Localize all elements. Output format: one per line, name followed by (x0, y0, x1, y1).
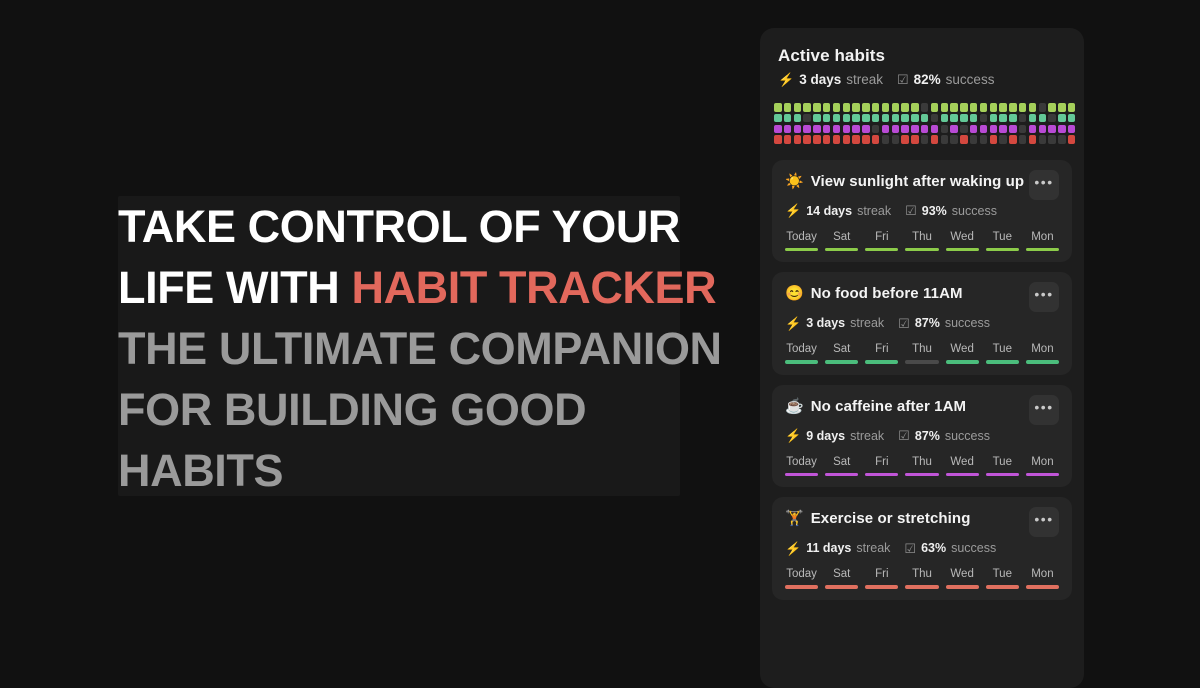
habit-day[interactable]: Sat (825, 456, 858, 477)
habit-streak-value: 11 days (806, 541, 851, 555)
heatmap-cell[interactable] (990, 114, 998, 123)
heatmap-cell[interactable] (960, 135, 968, 144)
coffee-cup-icon: ☕ (785, 397, 804, 416)
habit-card[interactable]: 😊No food before 11AM•••⚡3 daysstreak☑87%… (772, 272, 1072, 375)
habit-options-button[interactable]: ••• (1029, 282, 1059, 312)
habit-card[interactable]: ☕No caffeine after 1AM•••⚡9 daysstreak☑8… (772, 385, 1072, 488)
habit-day-label: Fri (865, 343, 898, 355)
habit-day-label: Mon (1026, 568, 1059, 580)
headline-segment-grey: HABITS (118, 445, 283, 496)
heatmap-cell[interactable] (901, 103, 909, 112)
lightning-bolt-icon: ⚡ (785, 542, 801, 555)
heatmap-cell[interactable] (911, 135, 919, 144)
heatmap-cell[interactable] (872, 103, 880, 112)
heatmap-cell[interactable] (921, 103, 929, 112)
heatmap-cell[interactable] (803, 114, 811, 123)
heatmap-cell[interactable] (970, 135, 978, 144)
heatmap-row (774, 135, 1070, 144)
lightning-bolt-icon: ⚡ (785, 204, 801, 217)
heatmap-cell[interactable] (872, 135, 880, 144)
heatmap-cell[interactable] (813, 103, 821, 112)
habit-day-bar (986, 248, 1019, 252)
heatmap-cell[interactable] (911, 103, 919, 112)
heatmap-cell[interactable] (990, 125, 998, 134)
panel-success-label: success (946, 72, 995, 87)
heatmap-cell[interactable] (1068, 103, 1076, 112)
habit-day-label: Mon (1026, 343, 1059, 355)
heatmap-cell[interactable] (1068, 135, 1076, 144)
habit-day[interactable]: Sat (825, 568, 858, 589)
heatmap-cell[interactable] (941, 135, 949, 144)
habit-title: No caffeine after 1AM (811, 397, 1025, 416)
habit-day[interactable]: Thu (905, 231, 938, 252)
habit-day[interactable]: Mon (1026, 568, 1059, 589)
habit-day-label: Wed (946, 568, 979, 580)
habit-stats: ⚡9 daysstreak☑87%success (785, 429, 1059, 443)
habit-day[interactable]: Mon (1026, 231, 1059, 252)
heatmap-cell[interactable] (882, 114, 890, 123)
habit-day[interactable]: Tue (986, 568, 1019, 589)
heatmap-cell[interactable] (901, 135, 909, 144)
habit-title: View sunlight after waking up (811, 172, 1025, 191)
habit-options-button[interactable]: ••• (1029, 170, 1059, 200)
heatmap-cell[interactable] (1009, 114, 1017, 123)
habit-day-bar (865, 360, 898, 364)
heatmap-cell[interactable] (852, 135, 860, 144)
habit-streak-label: streak (850, 429, 884, 443)
heatmap-cell[interactable] (882, 135, 890, 144)
habit-day-label: Sat (825, 456, 858, 468)
habit-success-value: 63% (921, 541, 946, 555)
heatmap-cell[interactable] (960, 114, 968, 123)
habit-title: No food before 11AM (811, 284, 1025, 303)
habit-day-bar (1026, 360, 1059, 364)
habit-day-bar (946, 473, 979, 477)
habit-day[interactable]: Mon (1026, 343, 1059, 364)
heatmap-cell[interactable] (921, 125, 929, 134)
heatmap-cell[interactable] (892, 135, 900, 144)
heatmap-cell[interactable] (1048, 125, 1056, 134)
heatmap-cell[interactable] (999, 125, 1007, 134)
habit-day-label: Sat (825, 568, 858, 580)
heatmap-cell[interactable] (882, 125, 890, 134)
heatmap-row (774, 114, 1070, 123)
heatmap-cell[interactable] (774, 135, 782, 144)
habit-day[interactable]: Tue (986, 231, 1019, 252)
habit-day-bar (905, 473, 938, 477)
heatmap-cell[interactable] (931, 114, 939, 123)
habit-card-header: 😊No food before 11AM••• (785, 284, 1059, 312)
habit-day-label: Fri (865, 568, 898, 580)
habit-success-label: success (945, 316, 990, 330)
heatmap-cell[interactable] (931, 135, 939, 144)
habit-stats: ⚡3 daysstreak☑87%success (785, 316, 1059, 330)
heatmap-cell[interactable] (1009, 103, 1017, 112)
heatmap-cell[interactable] (794, 125, 802, 134)
habit-day[interactable]: Fri (865, 343, 898, 364)
habit-day-label: Sat (825, 343, 858, 355)
heatmap-cell[interactable] (980, 114, 988, 123)
heatmap-cell[interactable] (1029, 135, 1037, 144)
habit-day-bar (905, 585, 938, 589)
heatmap-cell[interactable] (794, 103, 802, 112)
habit-day[interactable]: Tue (986, 343, 1019, 364)
heatmap-cell[interactable] (1029, 103, 1037, 112)
heatmap-cell[interactable] (833, 125, 841, 134)
heatmap-cell[interactable] (970, 125, 978, 134)
heatmap-cell[interactable] (980, 103, 988, 112)
headline-line: HABITS (118, 440, 684, 501)
heatmap-cell[interactable] (970, 103, 978, 112)
habit-success: ☑63%success (904, 541, 996, 555)
heatmap-cell[interactable] (1058, 135, 1066, 144)
habit-day-label: Today (785, 568, 818, 580)
habit-success-value: 87% (915, 316, 940, 330)
heatmap-cell[interactable] (813, 125, 821, 134)
heatmap-cell[interactable] (999, 135, 1007, 144)
habit-day-bar (946, 248, 979, 252)
heatmap-cell[interactable] (892, 125, 900, 134)
heatmap-cell[interactable] (823, 114, 831, 123)
habit-day[interactable]: Fri (865, 456, 898, 477)
heatmap-cell[interactable] (1009, 135, 1017, 144)
headline-segment-white: TAKE CONTROL OF YOUR (118, 201, 680, 252)
habit-day-label: Sat (825, 231, 858, 243)
habit-day-label: Today (785, 343, 818, 355)
habit-streak: ⚡11 daysstreak (785, 541, 890, 555)
heatmap-cell[interactable] (784, 125, 792, 134)
panel-summary: ⚡ 3 days streak ☑ 82% success (778, 72, 1066, 87)
habit-day-bar (905, 248, 938, 252)
habit-day-bar (825, 248, 858, 252)
habit-day-label: Thu (905, 456, 938, 468)
habit-success-value: 93% (922, 204, 947, 218)
heatmap-cell[interactable] (774, 125, 782, 134)
habit-card-header: 🏋️Exercise or stretching••• (785, 509, 1059, 537)
heatmap-cell[interactable] (852, 114, 860, 123)
heatmap-cell[interactable] (921, 114, 929, 123)
headline-segment-accent: HABIT TRACKER (351, 262, 716, 313)
heatmap-cell[interactable] (990, 103, 998, 112)
panel-streak-value: 3 days (799, 72, 841, 87)
habit-options-button[interactable]: ••• (1029, 507, 1059, 537)
habit-week-strip: TodaySatFriThuWedTueMon (785, 343, 1059, 364)
heatmap-cell[interactable] (911, 125, 919, 134)
heatmap-cell[interactable] (1019, 125, 1027, 134)
habit-day[interactable]: Thu (905, 456, 938, 477)
habit-day-bar (986, 360, 1019, 364)
habit-streak: ⚡14 daysstreak (785, 204, 891, 218)
habit-success-label: success (945, 429, 990, 443)
habit-card-header: ☕No caffeine after 1AM••• (785, 397, 1059, 425)
headline-segment-grey: FOR BUILDING GOOD (118, 384, 586, 435)
heatmap-cell[interactable] (960, 125, 968, 134)
heatmap-cell[interactable] (950, 135, 958, 144)
heatmap-cell[interactable] (1029, 125, 1037, 134)
heatmap-cell[interactable] (862, 135, 870, 144)
heatmap-cell[interactable] (852, 103, 860, 112)
headline-segment-grey: THE ULTIMATE COMPANION (118, 323, 722, 374)
habit-day[interactable]: Wed (946, 343, 979, 364)
heatmap-row (774, 103, 1070, 112)
heatmap-cell[interactable] (921, 135, 929, 144)
page-title: TAKE CONTROL OF YOURLIFE WITH HABIT TRAC… (118, 196, 684, 501)
habit-day-label: Thu (905, 568, 938, 580)
heatmap-cell[interactable] (852, 125, 860, 134)
habit-day-bar (785, 585, 818, 589)
heatmap-cell[interactable] (960, 103, 968, 112)
habit-day-label: Wed (946, 456, 979, 468)
heatmap-cell[interactable] (1019, 103, 1027, 112)
heatmap-cell[interactable] (911, 114, 919, 123)
habit-day[interactable]: Today (785, 343, 818, 364)
habit-day[interactable]: Today (785, 231, 818, 252)
habit-stats: ⚡14 daysstreak☑93%success (785, 204, 1059, 218)
habit-week-strip: TodaySatFriThuWedTueMon (785, 456, 1059, 477)
habit-day-label: Today (785, 456, 818, 468)
heatmap-cell[interactable] (872, 125, 880, 134)
heatmap-cell[interactable] (784, 135, 792, 144)
habit-success-label: success (951, 541, 996, 555)
habit-day-label: Thu (905, 343, 938, 355)
habit-day-label: Mon (1026, 456, 1059, 468)
lightning-bolt-icon: ⚡ (778, 73, 794, 86)
habit-day-label: Tue (986, 343, 1019, 355)
habit-day-bar (865, 585, 898, 589)
checkbox-icon: ☑ (897, 73, 909, 86)
active-habits-panel: Active habits ⚡ 3 days streak ☑ 82% succ… (760, 28, 1084, 688)
habit-day[interactable]: Wed (946, 568, 979, 589)
habit-heatmap[interactable] (774, 103, 1070, 144)
heatmap-cell[interactable] (794, 114, 802, 123)
heatmap-cell[interactable] (803, 125, 811, 134)
heatmap-cell[interactable] (901, 125, 909, 134)
heatmap-cell[interactable] (823, 103, 831, 112)
habit-day-bar (825, 585, 858, 589)
habit-stats: ⚡11 daysstreak☑63%success (785, 541, 1059, 555)
checkbox-icon: ☑ (898, 317, 910, 330)
heatmap-cell[interactable] (941, 103, 949, 112)
heatmap-cell[interactable] (941, 114, 949, 123)
habit-day-label: Tue (986, 456, 1019, 468)
habit-day-bar (1026, 248, 1059, 252)
habit-day-label: Mon (1026, 231, 1059, 243)
heatmap-cell[interactable] (1068, 114, 1076, 123)
heatmap-cell[interactable] (833, 114, 841, 123)
habit-day[interactable]: Fri (865, 568, 898, 589)
habit-day-label: Tue (986, 231, 1019, 243)
habit-week-strip: TodaySatFriThuWedTueMon (785, 568, 1059, 589)
heatmap-cell[interactable] (1039, 114, 1047, 123)
heatmap-cell[interactable] (892, 103, 900, 112)
habit-day-label: Today (785, 231, 818, 243)
headline-line: TAKE CONTROL OF YOUR (118, 196, 684, 257)
heatmap-cell[interactable] (931, 103, 939, 112)
heatmap-cell[interactable] (872, 114, 880, 123)
checkbox-icon: ☑ (904, 542, 916, 555)
habit-day-label: Wed (946, 343, 979, 355)
heatmap-cell[interactable] (843, 103, 851, 112)
heatmap-cell[interactable] (843, 114, 851, 123)
habit-day[interactable]: Sat (825, 231, 858, 252)
heatmap-cell[interactable] (1039, 135, 1047, 144)
heatmap-cell[interactable] (980, 125, 988, 134)
heatmap-cell[interactable] (1019, 114, 1027, 123)
habit-day-bar (905, 360, 938, 364)
habit-streak-label: streak (856, 541, 890, 555)
habit-streak-value: 14 days (806, 204, 852, 218)
habit-success: ☑87%success (898, 429, 990, 443)
heatmap-cell[interactable] (1048, 103, 1056, 112)
habit-streak-label: streak (850, 316, 884, 330)
habit-day-bar (946, 360, 979, 364)
habit-day-bar (865, 248, 898, 252)
panel-streak: ⚡ 3 days streak (778, 72, 883, 87)
habit-day[interactable]: Mon (1026, 456, 1059, 477)
heatmap-cell[interactable] (1058, 125, 1066, 134)
habit-card[interactable]: ☀️View sunlight after waking up•••⚡14 da… (772, 160, 1072, 263)
habit-day-label: Tue (986, 568, 1019, 580)
heatmap-cell[interactable] (862, 103, 870, 112)
habit-day[interactable]: Fri (865, 231, 898, 252)
heatmap-cell[interactable] (1029, 114, 1037, 123)
habit-day-label: Fri (865, 456, 898, 468)
habit-day-bar (946, 585, 979, 589)
habit-day-bar (825, 473, 858, 477)
heatmap-cell[interactable] (803, 135, 811, 144)
heatmap-cell[interactable] (843, 135, 851, 144)
habit-week-strip: TodaySatFriThuWedTueMon (785, 231, 1059, 252)
heatmap-cell[interactable] (882, 103, 890, 112)
habit-day-bar (986, 585, 1019, 589)
habit-card-list: ☀️View sunlight after waking up•••⚡14 da… (760, 160, 1084, 600)
habit-day-label: Thu (905, 231, 938, 243)
habit-streak: ⚡9 daysstreak (785, 429, 884, 443)
heatmap-cell[interactable] (941, 125, 949, 134)
heatmap-cell[interactable] (950, 125, 958, 134)
smiling-face-icon: 😊 (785, 284, 804, 303)
habit-day-bar (986, 473, 1019, 477)
heatmap-cell[interactable] (823, 135, 831, 144)
heatmap-cell[interactable] (950, 114, 958, 123)
heatmap-row (774, 125, 1070, 134)
hero-section: TAKE CONTROL OF YOURLIFE WITH HABIT TRAC… (118, 196, 684, 501)
heatmap-cell[interactable] (901, 114, 909, 123)
habit-streak: ⚡3 daysstreak (785, 316, 884, 330)
habit-title: Exercise or stretching (811, 509, 1025, 528)
heatmap-cell[interactable] (784, 114, 792, 123)
habit-day-bar (785, 360, 818, 364)
heatmap-cell[interactable] (784, 103, 792, 112)
panel-title: Active habits (778, 46, 1066, 66)
heatmap-cell[interactable] (833, 103, 841, 112)
heatmap-cell[interactable] (990, 135, 998, 144)
habit-success: ☑93%success (905, 204, 997, 218)
checkbox-icon: ☑ (905, 204, 917, 217)
heatmap-cell[interactable] (774, 103, 782, 112)
heatmap-cell[interactable] (813, 135, 821, 144)
heatmap-cell[interactable] (892, 114, 900, 123)
habit-day-bar (785, 248, 818, 252)
lightning-bolt-icon: ⚡ (785, 317, 801, 330)
page-root: TAKE CONTROL OF YOURLIFE WITH HABIT TRAC… (0, 0, 1200, 675)
panel-streak-label: streak (846, 72, 883, 87)
heatmap-cell[interactable] (980, 135, 988, 144)
weightlifter-icon: 🏋️ (785, 509, 804, 528)
habit-streak-value: 3 days (806, 316, 845, 330)
headline-line: LIFE WITH HABIT TRACKER (118, 257, 684, 318)
headline-line: FOR BUILDING GOOD (118, 379, 684, 440)
panel-header: Active habits ⚡ 3 days streak ☑ 82% succ… (760, 28, 1084, 87)
habit-streak-value: 9 days (806, 429, 845, 443)
headline-line: THE ULTIMATE COMPANION (118, 318, 684, 379)
heatmap-cell[interactable] (813, 114, 821, 123)
habit-day[interactable]: Today (785, 456, 818, 477)
heatmap-cell[interactable] (999, 103, 1007, 112)
heatmap-cell[interactable] (1048, 135, 1056, 144)
habit-streak-label: streak (857, 204, 891, 218)
heatmap-cell[interactable] (970, 114, 978, 123)
lightning-bolt-icon: ⚡ (785, 429, 801, 442)
heatmap-cell[interactable] (1058, 103, 1066, 112)
heatmap-cell[interactable] (1048, 114, 1056, 123)
habit-success-value: 87% (915, 429, 940, 443)
heatmap-cell[interactable] (1019, 135, 1027, 144)
habit-card-header: ☀️View sunlight after waking up••• (785, 172, 1059, 200)
habit-card[interactable]: 🏋️Exercise or stretching•••⚡11 daysstrea… (772, 497, 1072, 600)
habit-day[interactable]: Tue (986, 456, 1019, 477)
habit-success-label: success (952, 204, 997, 218)
habit-day[interactable]: Wed (946, 231, 979, 252)
habit-day[interactable]: Thu (905, 568, 938, 589)
habit-success: ☑87%success (898, 316, 990, 330)
checkbox-icon: ☑ (898, 429, 910, 442)
habit-day-bar (785, 473, 818, 477)
habit-day[interactable]: Sat (825, 343, 858, 364)
habit-day[interactable]: Wed (946, 456, 979, 477)
habit-day-bar (865, 473, 898, 477)
heatmap-cell[interactable] (833, 135, 841, 144)
habit-day-bar (1026, 585, 1059, 589)
habit-day[interactable]: Thu (905, 343, 938, 364)
heatmap-cell[interactable] (1068, 125, 1076, 134)
panel-success: ☑ 82% success (897, 72, 994, 87)
panel-success-value: 82% (914, 72, 941, 87)
heatmap-cell[interactable] (950, 103, 958, 112)
heatmap-cell[interactable] (803, 103, 811, 112)
heatmap-cell[interactable] (999, 114, 1007, 123)
habit-day-label: Wed (946, 231, 979, 243)
heatmap-cell[interactable] (823, 125, 831, 134)
habit-day-label: Fri (865, 231, 898, 243)
heatmap-cell[interactable] (1058, 114, 1066, 123)
headline-segment-white: LIFE WITH (118, 262, 351, 313)
heatmap-cell[interactable] (774, 114, 782, 123)
heatmap-cell[interactable] (1039, 125, 1047, 134)
sun-icon: ☀️ (785, 172, 804, 191)
habit-day-bar (825, 360, 858, 364)
habit-options-button[interactable]: ••• (1029, 395, 1059, 425)
heatmap-cell[interactable] (862, 114, 870, 123)
heatmap-cell[interactable] (931, 125, 939, 134)
heatmap-cell[interactable] (794, 135, 802, 144)
heatmap-cell[interactable] (1039, 103, 1047, 112)
heatmap-cell[interactable] (862, 125, 870, 134)
habit-day-bar (1026, 473, 1059, 477)
habit-day[interactable]: Today (785, 568, 818, 589)
heatmap-cell[interactable] (843, 125, 851, 134)
heatmap-cell[interactable] (1009, 125, 1017, 134)
